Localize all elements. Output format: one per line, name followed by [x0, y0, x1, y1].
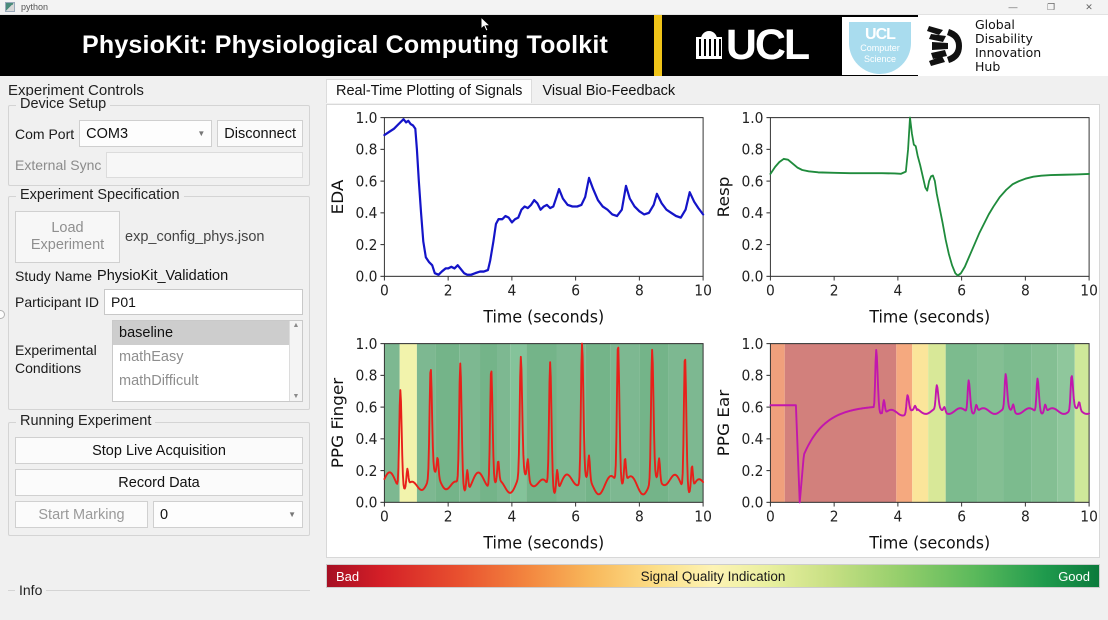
com-port-label: Com Port [15, 126, 74, 142]
svg-text:Time (seconds): Time (seconds) [482, 533, 604, 553]
experimental-conditions-list[interactable]: baseline mathEasy mathDifficult ▲ ▼ [112, 320, 303, 402]
svg-text:8: 8 [1021, 509, 1030, 525]
svg-text:0: 0 [766, 509, 775, 525]
chart-resp: 02468100.00.20.40.60.81.0Time (seconds)R… [713, 105, 1099, 331]
svg-text:0.0: 0.0 [355, 269, 377, 285]
yellow-accent-bar [654, 15, 662, 76]
disconnect-button[interactable]: Disconnect [217, 120, 303, 147]
load-experiment-button[interactable]: Load Experiment [15, 211, 120, 263]
experiment-spec-legend: Experiment Specification [16, 187, 184, 203]
svg-text:0: 0 [766, 283, 775, 299]
radio-stub-icon[interactable] [0, 310, 5, 319]
svg-text:0.6: 0.6 [355, 400, 377, 416]
tab-bar: Real-Time Plotting of Signals Visual Bio… [318, 76, 1108, 103]
svg-text:4: 4 [507, 509, 516, 525]
marker-value: 0 [160, 507, 168, 523]
svg-text:1.0: 1.0 [355, 111, 377, 127]
chart-ppg-finger: 02468100.00.20.40.60.81.0Time (seconds)P… [327, 331, 713, 557]
svg-text:0.4: 0.4 [741, 432, 763, 448]
colorbar-title: Signal Quality Indication [327, 569, 1099, 584]
chart-eda: 02468100.00.20.40.60.81.0Time (seconds)E… [327, 105, 713, 331]
svg-text:0.8: 0.8 [355, 368, 377, 384]
svg-text:1.0: 1.0 [741, 111, 763, 127]
python-icon [5, 2, 15, 12]
external-sync-input[interactable] [106, 152, 303, 178]
svg-text:PPG Ear: PPG Ear [714, 389, 732, 456]
load-button-line2: Experiment [31, 237, 104, 254]
tab-visual-bio-feedback[interactable]: Visual Bio-Feedback [532, 79, 685, 103]
study-name-label: Study Name [15, 268, 92, 284]
device-setup-legend: Device Setup [16, 96, 110, 112]
ucl-wordmark: UCL [726, 24, 808, 67]
config-filename: exp_config_phys.json [125, 229, 264, 245]
svg-text:0.2: 0.2 [741, 463, 763, 479]
mouse-cursor [480, 16, 492, 33]
conditions-label-line2: Conditions [15, 360, 81, 376]
svg-text:Time (seconds): Time (seconds) [482, 307, 604, 327]
close-icon[interactable]: ✕ [1070, 0, 1108, 15]
svg-text:1.0: 1.0 [741, 337, 763, 353]
load-button-line1: Load [51, 220, 83, 237]
svg-text:0.4: 0.4 [355, 206, 377, 222]
info-group: Info [8, 590, 310, 616]
list-scrollbar[interactable]: ▲ ▼ [289, 321, 302, 401]
svg-text:Time (seconds): Time (seconds) [868, 307, 990, 327]
info-legend: Info [15, 582, 46, 598]
experiment-specification-group: Experiment Specification Load Experiment… [8, 196, 310, 410]
chevron-down-icon: ▼ [197, 129, 205, 138]
svg-text:0: 0 [380, 283, 389, 299]
svg-text:6: 6 [957, 283, 966, 299]
svg-text:0.2: 0.2 [741, 237, 763, 253]
svg-text:Resp: Resp [714, 177, 732, 218]
com-port-select[interactable]: COM3 ▼ [79, 120, 212, 147]
svg-text:8: 8 [635, 283, 644, 299]
gdi-hub-mark-icon [926, 23, 968, 69]
svg-text:0.0: 0.0 [741, 269, 763, 285]
gdi-line1: Global [975, 18, 1041, 32]
minimize-icon[interactable]: — [994, 0, 1032, 15]
gdi-line3: Innovation [975, 46, 1041, 60]
svg-text:6: 6 [571, 509, 580, 525]
svg-text:6: 6 [571, 283, 580, 299]
external-sync-label: External Sync [15, 157, 101, 173]
svg-text:PPG Finger: PPG Finger [328, 378, 346, 469]
scroll-up-icon[interactable]: ▲ [293, 322, 300, 329]
stop-live-acquisition-button[interactable]: Stop Live Acquisition [15, 437, 303, 464]
gdi-hub-logo: Global Disability Innovation Hub [918, 15, 1108, 76]
study-name-value: PhysioKit_Validation [97, 268, 228, 284]
svg-text:0.0: 0.0 [355, 495, 377, 511]
ucl-computer-science-logo: UCL Computer Science [842, 17, 918, 75]
cs-line2: Science [864, 54, 896, 64]
cs-ucl-text: UCL [865, 27, 895, 43]
svg-text:2: 2 [444, 509, 453, 525]
svg-text:0.2: 0.2 [355, 463, 377, 479]
svg-text:10: 10 [694, 509, 712, 525]
svg-text:0.0: 0.0 [741, 495, 763, 511]
svg-text:0: 0 [380, 509, 389, 525]
svg-text:0.4: 0.4 [741, 206, 763, 222]
svg-text:8: 8 [1021, 283, 1030, 299]
app-title: PhysioKit: Physiological Computing Toolk… [0, 31, 654, 60]
svg-text:10: 10 [1080, 283, 1098, 299]
ucl-logo: UCL [662, 15, 842, 76]
svg-text:EDA: EDA [328, 179, 346, 215]
svg-text:0.6: 0.6 [355, 174, 377, 190]
svg-text:4: 4 [507, 283, 516, 299]
svg-text:10: 10 [694, 283, 712, 299]
svg-text:10: 10 [1080, 509, 1098, 525]
svg-text:2: 2 [830, 283, 839, 299]
app-banner: PhysioKit: Physiological Computing Toolk… [0, 15, 1108, 76]
running-experiment-legend: Running Experiment [16, 413, 155, 429]
plot-grid: 02468100.00.20.40.60.81.0Time (seconds)E… [327, 105, 1099, 557]
marker-value-select[interactable]: 0 ▼ [153, 501, 303, 528]
svg-text:2: 2 [830, 509, 839, 525]
list-item[interactable]: mathDifficult [113, 369, 302, 393]
svg-text:0.8: 0.8 [355, 142, 377, 158]
svg-text:0.6: 0.6 [741, 400, 763, 416]
svg-text:0.8: 0.8 [741, 142, 763, 158]
svg-text:Time (seconds): Time (seconds) [868, 533, 990, 553]
tab-content-real-time-plotting: 02468100.00.20.40.60.81.0Time (seconds)E… [326, 104, 1100, 558]
svg-text:4: 4 [893, 283, 902, 299]
signal-quality-colorbar-wrap: Bad Signal Quality Indication Good [326, 564, 1100, 588]
participant-id-input[interactable]: P01 [104, 289, 303, 315]
svg-text:0.6: 0.6 [741, 174, 763, 190]
list-item[interactable]: baseline [113, 321, 302, 345]
svg-text:0.2: 0.2 [355, 237, 377, 253]
signal-quality-colorbar: Bad Signal Quality Indication Good [326, 564, 1100, 588]
gdi-hub-text: Global Disability Innovation Hub [975, 18, 1041, 74]
os-titlebar: python — ❐ ✕ [0, 0, 1108, 15]
experimental-conditions-label: Experimental Conditions [15, 320, 107, 377]
svg-text:0.8: 0.8 [741, 368, 763, 384]
gdi-line2: Disability [975, 32, 1041, 46]
experiment-controls-panel: Experiment Controls Device Setup Com Por… [0, 76, 318, 620]
svg-text:0.4: 0.4 [355, 432, 377, 448]
plots-panel: Real-Time Plotting of Signals Visual Bio… [318, 76, 1108, 620]
window-controls: — ❐ ✕ [994, 0, 1108, 15]
list-item[interactable]: mathEasy [113, 345, 302, 369]
device-setup-group: Device Setup Com Port COM3 ▼ Disconnect … [8, 105, 310, 186]
scroll-down-icon[interactable]: ▼ [293, 393, 300, 400]
svg-text:2: 2 [444, 283, 453, 299]
svg-text:1.0: 1.0 [355, 337, 377, 353]
cs-line1: Computer [860, 43, 900, 53]
svg-text:6: 6 [957, 509, 966, 525]
participant-id-label: Participant ID [15, 294, 99, 310]
maximize-icon[interactable]: ❐ [1032, 0, 1070, 15]
chart-ppg-ear: 02468100.00.20.40.60.81.0Time (seconds)P… [713, 331, 1099, 557]
record-data-button[interactable]: Record Data [15, 469, 303, 496]
gdi-line4: Hub [975, 60, 1041, 74]
running-experiment-group: Running Experiment Stop Live Acquisition… [8, 422, 310, 536]
svg-text:4: 4 [893, 509, 902, 525]
conditions-label-line1: Experimental [15, 342, 97, 358]
ucl-dome-icon [696, 31, 722, 61]
start-marking-button[interactable]: Start Marking [15, 501, 148, 528]
chevron-down-icon: ▼ [288, 510, 296, 519]
window-title: python [21, 2, 48, 12]
svg-text:8: 8 [635, 509, 644, 525]
tab-real-time-plotting[interactable]: Real-Time Plotting of Signals [326, 79, 532, 103]
com-port-value: COM3 [86, 126, 128, 142]
